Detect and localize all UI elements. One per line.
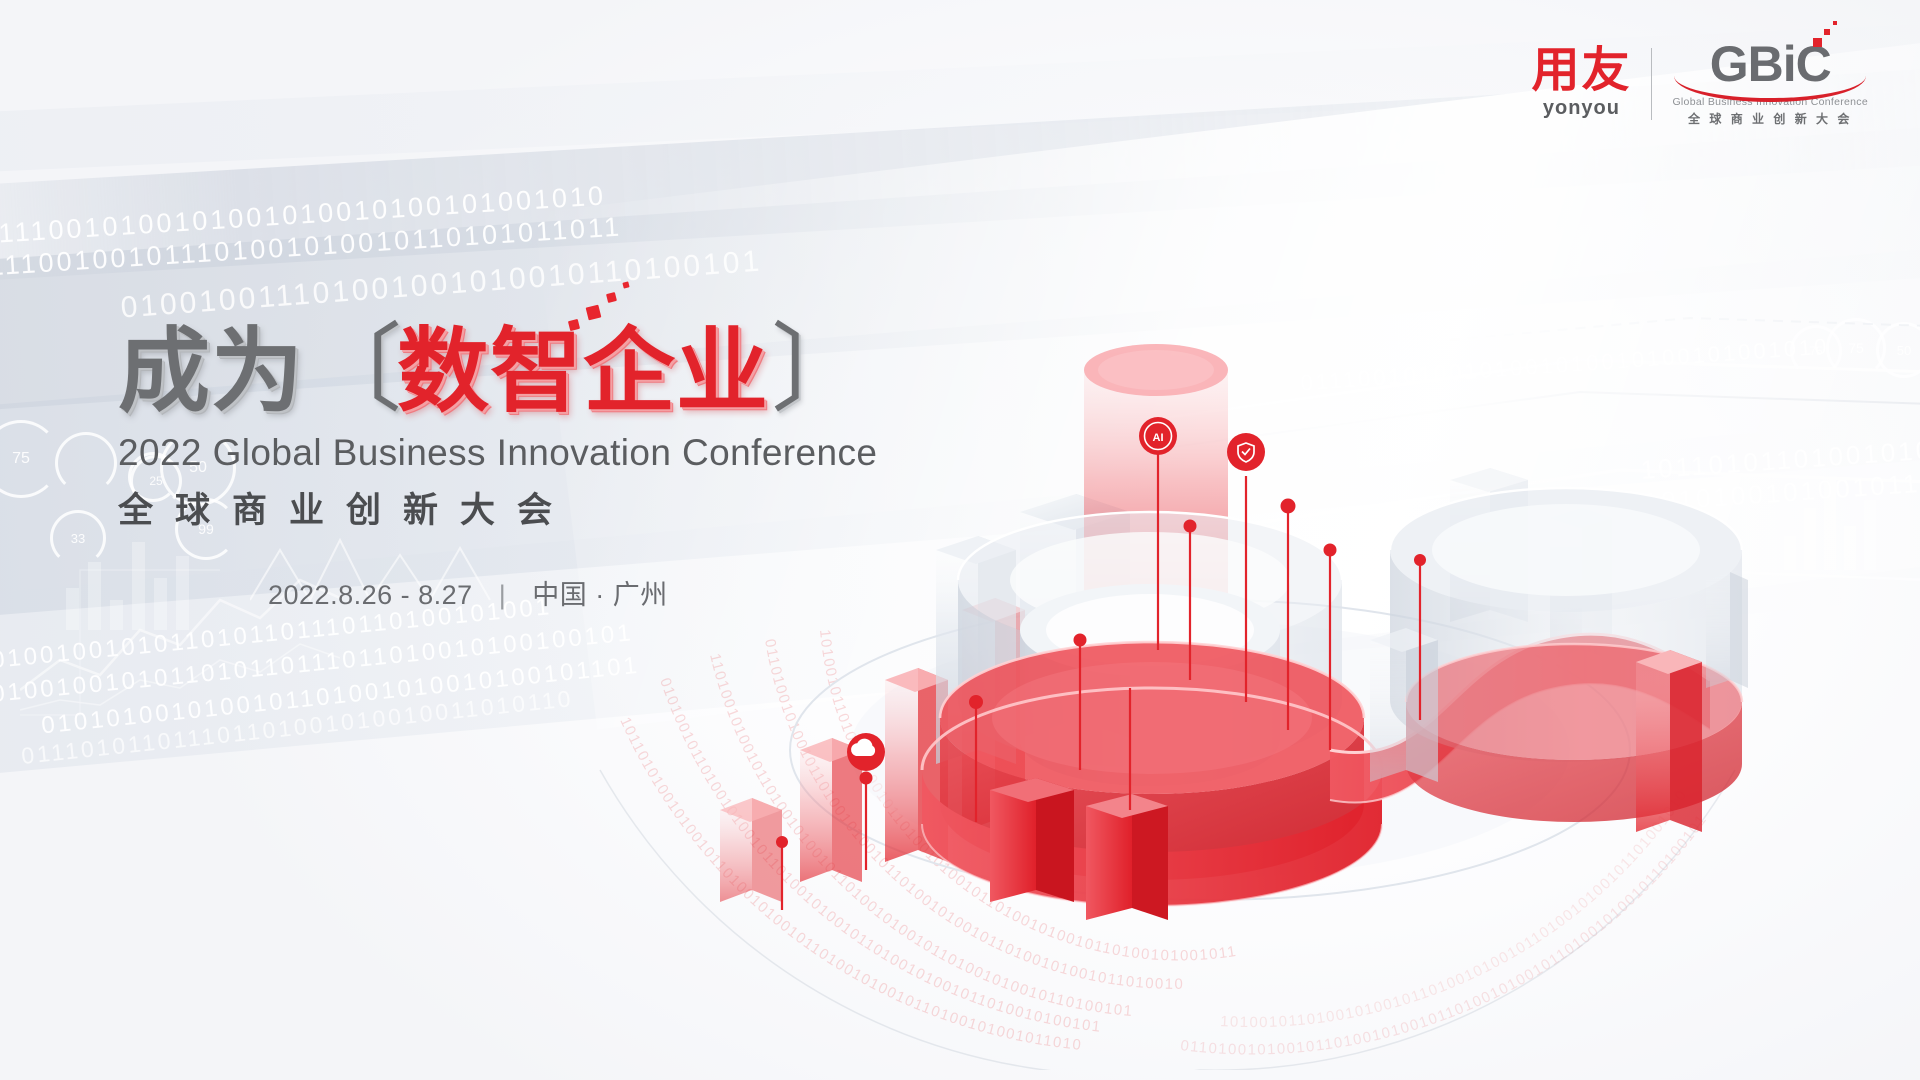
bar [1864, 500, 1876, 570]
dot-icon [1281, 499, 1296, 514]
pixel-accent [1833, 21, 1837, 25]
meta-separator: | [499, 580, 507, 610]
conference-key-visual: 01110010100101001010010100101001010 0111… [0, 0, 1920, 1080]
logo-lockup: 用友 yonyou GBiC Global Business Innovatio… [1531, 40, 1868, 127]
event-date: 2022.8.26 - 8.27 [268, 580, 473, 610]
bracket-close: 〕 [771, 322, 868, 418]
ai-badge-icon: AI [1139, 417, 1177, 455]
gauge-value: 33 [71, 531, 85, 546]
bar [1824, 480, 1836, 570]
yonyou-logo: 用友 yonyou [1531, 47, 1631, 121]
pixel-accent [606, 292, 617, 303]
svg-text:AI: AI [1153, 432, 1164, 444]
dot-icon [1074, 634, 1087, 647]
dot-icon [1324, 544, 1337, 557]
bar [66, 588, 79, 630]
event-meta: 2022.8.26 - 8.27 | 中国 · 广州 [268, 573, 938, 612]
yonyou-logo-cn: 用友 [1531, 47, 1631, 96]
title-prefix: 成为 [118, 326, 304, 418]
cloud-icon [847, 733, 885, 771]
main-title: 成为 〔 数智企业 〕 [118, 310, 938, 418]
gauge-ring: 33 [50, 510, 106, 566]
binary-row: 0100100101011010110111011010010100100101 [0, 619, 635, 709]
gauge-value: 75 [12, 450, 30, 468]
gbic-tagline-cn: 全 球 商 业 创 新 大 会 [1672, 110, 1868, 127]
dot-icon [969, 695, 983, 709]
gauge-ring: 75 [1826, 318, 1886, 378]
title-highlight-text: 数智企业 [397, 321, 769, 423]
subtitle-english: 2022 Global Business Innovation Conferen… [118, 432, 938, 474]
bar [88, 562, 101, 630]
bar [1844, 526, 1856, 570]
dot-icon [1414, 554, 1426, 566]
binary-row: 0111001001011101001010010110101011011 [0, 212, 623, 284]
gbic-arc [1672, 80, 1868, 93]
dot-icon [860, 772, 873, 785]
subtitle-chinese: 全球商业创新大会 [118, 482, 938, 533]
title-highlight: 数智企业 [397, 326, 769, 418]
bar [1784, 536, 1796, 570]
dot-icon [776, 836, 788, 848]
yonyou-logo-en: yonyou [1531, 97, 1631, 120]
mini-bar-chart-right [1780, 470, 1920, 570]
event-location: 中国 · 广州 [532, 580, 668, 610]
gbic-logo: GBiC Global Business Innovation Conferen… [1672, 40, 1868, 127]
gauge-ring: 50 [1876, 322, 1920, 378]
gauge-value: 75 [1848, 340, 1864, 356]
headline-block: 成为 〔 数智企业 〕 2022 Global Business Innovat… [118, 310, 938, 612]
binary-row: 0101010010100101101001010010100101101 [40, 652, 641, 741]
bar [1804, 508, 1816, 570]
pixel-accent [586, 305, 602, 321]
binary-row: 011101011011101101001010010011010110 [20, 685, 575, 770]
gauge-ring: 75 [0, 420, 60, 498]
gauge-ring [55, 432, 117, 494]
gauge-ring: 75 [1790, 325, 1842, 377]
gauge-value: 75 [1809, 344, 1822, 358]
binary-row: 01110010100101001010010100101001010 [0, 180, 607, 250]
shield-check-icon [1227, 433, 1265, 471]
logo-divider [1651, 48, 1652, 120]
pixel-accent [1824, 29, 1830, 35]
bracket-open: 〔 [306, 322, 403, 418]
pixel-accent [622, 281, 629, 288]
gauge-value: 50 [1897, 343, 1911, 358]
pixel-accent [1813, 38, 1822, 47]
dot-icon [1184, 520, 1197, 533]
